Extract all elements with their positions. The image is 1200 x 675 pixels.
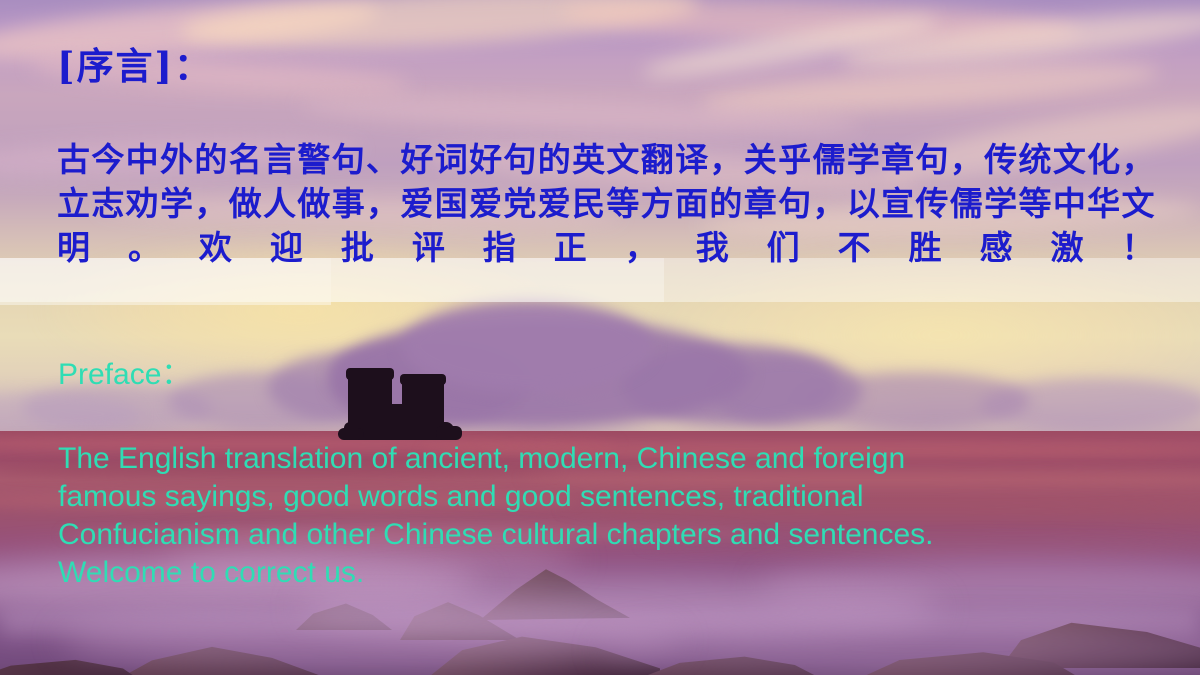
english-body-line: The English translation of ancient, mode…	[58, 440, 1118, 478]
english-body-line: Welcome to correct us.	[58, 554, 1118, 592]
slide-canvas: [序言]： 古今中外的名言警句、好词好句的英文翻译，关乎儒学章句，传统文化，立志…	[0, 0, 1200, 675]
english-body-paragraph: The English translation of ancient, mode…	[58, 440, 1118, 592]
slide-content: [序言]： 古今中外的名言警句、好词好句的英文翻译，关乎儒学章句，传统文化，立志…	[0, 0, 1200, 675]
english-body-line: famous sayings, good words and good sent…	[58, 478, 1118, 516]
chinese-heading: [序言]：	[57, 48, 213, 85]
english-body-line: Confucianism and other Chinese cultural …	[58, 516, 1118, 554]
english-heading: Preface：	[58, 358, 191, 391]
chinese-body-paragraph: 古今中外的名言警句、好词好句的英文翻译，关乎儒学章句，传统文化，立志劝学，做人做…	[57, 138, 1155, 270]
